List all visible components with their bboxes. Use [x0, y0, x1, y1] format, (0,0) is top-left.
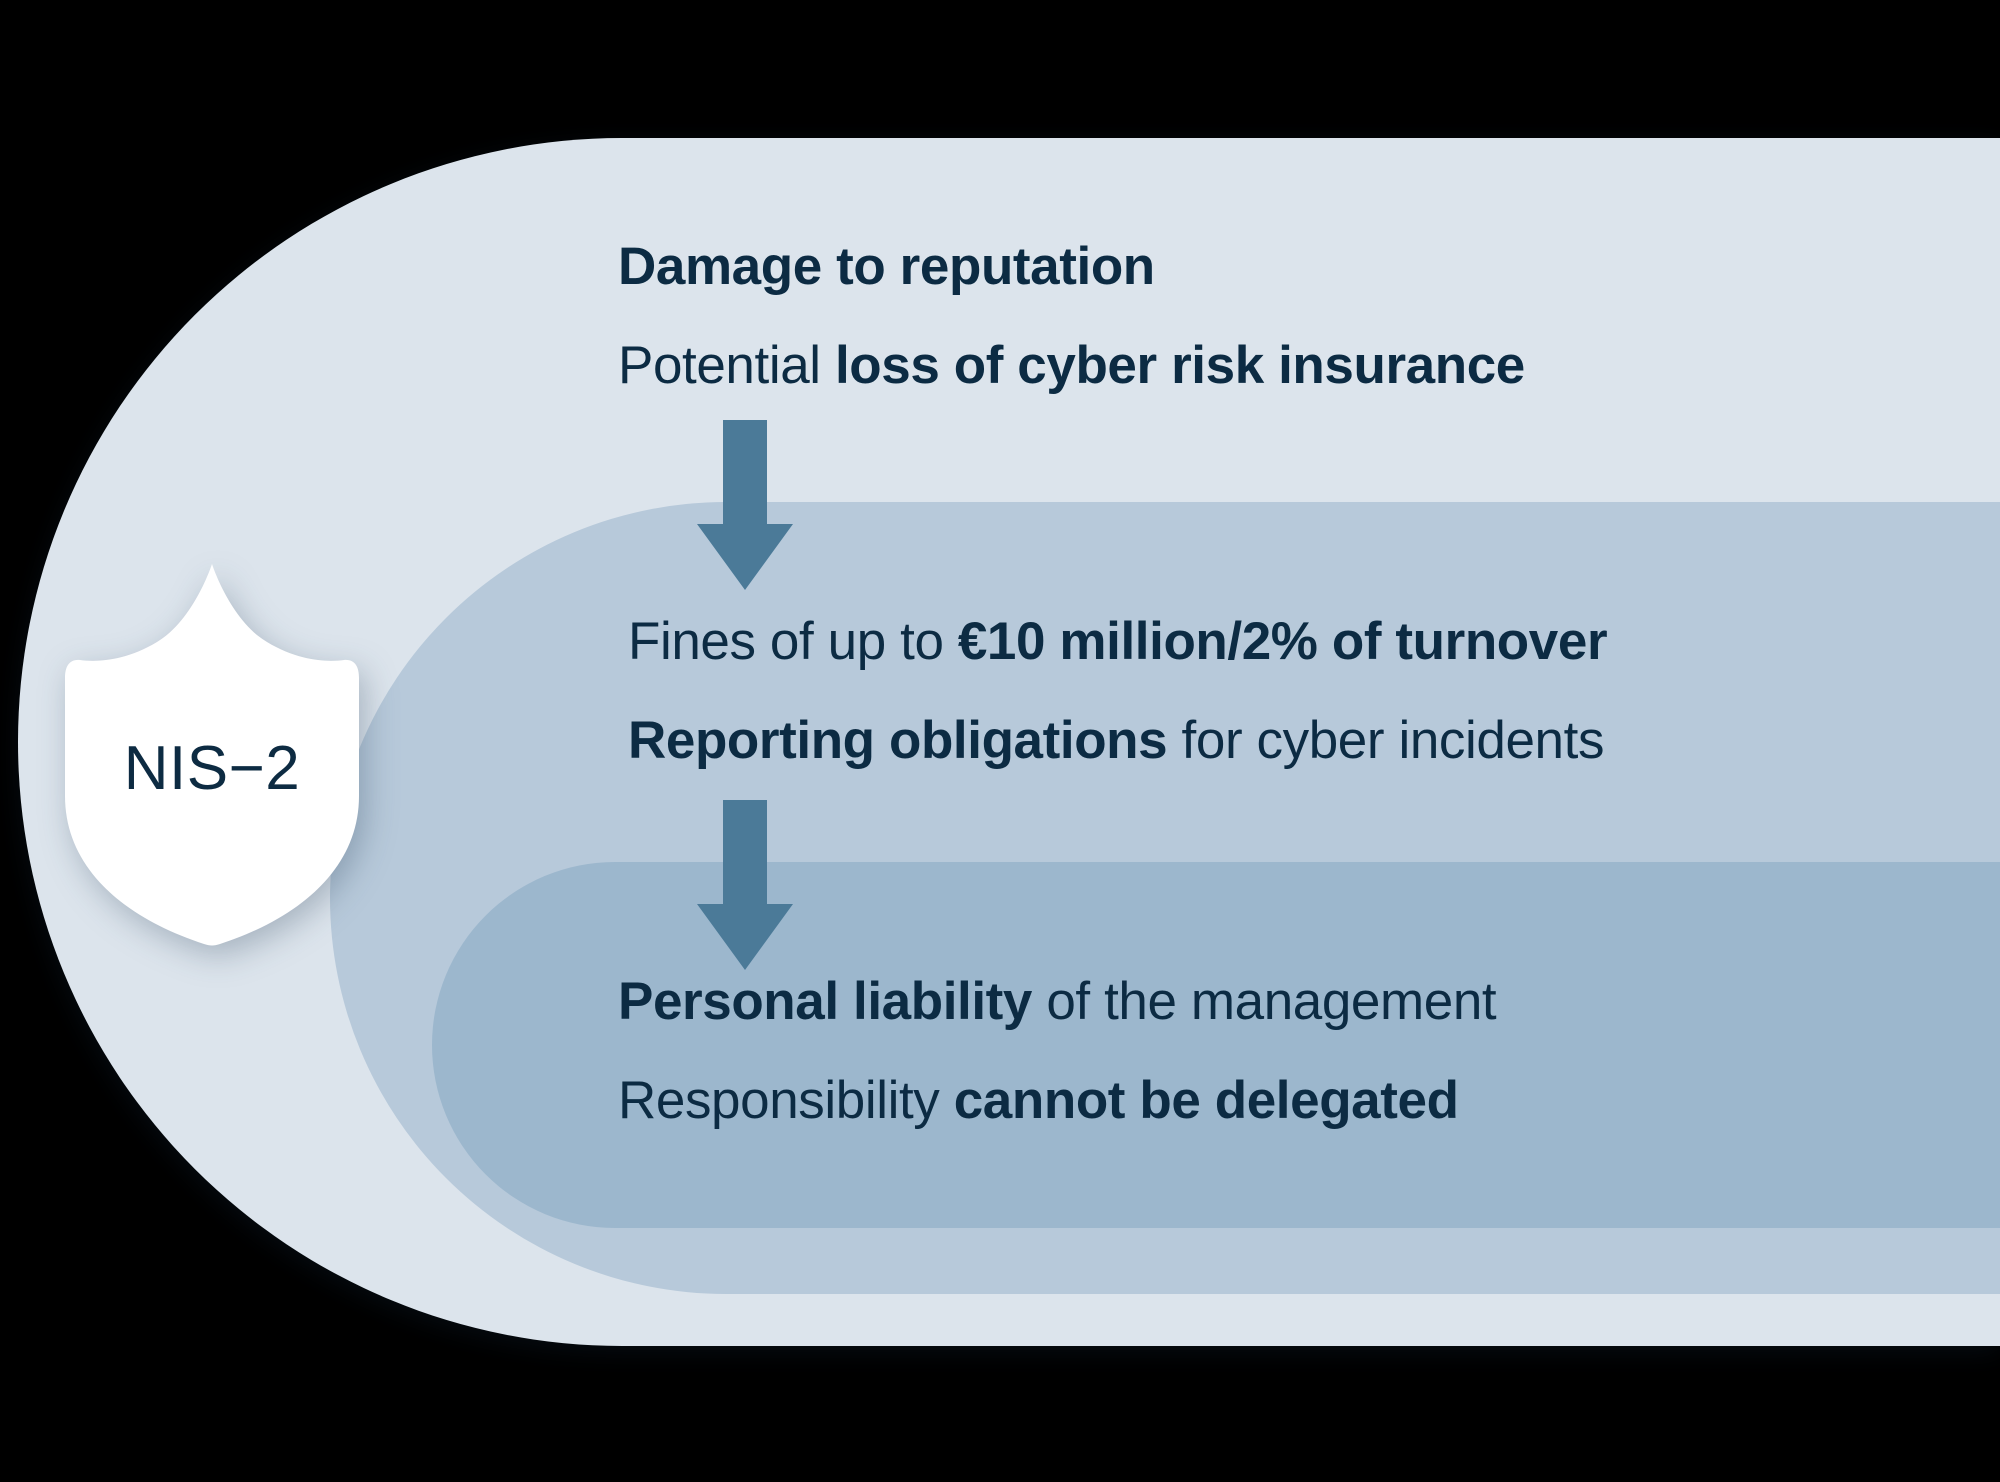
text-line: Reporting obligations for cyber incident…	[628, 714, 1607, 767]
text-line: Personal liability of the management	[618, 975, 1496, 1028]
text-segment: loss of cyber risk insurance	[835, 336, 1525, 395]
penalties-text: Fines of up to €10 million/2% of turnove…	[628, 615, 1607, 767]
text-segment: Responsibility	[618, 1071, 954, 1130]
arrow-down-icon	[697, 420, 793, 590]
arrow-down-1	[697, 420, 793, 590]
arrow-down-icon	[697, 800, 793, 970]
liability-text: Personal liability of the management Res…	[618, 975, 1496, 1127]
text-line: Fines of up to €10 million/2% of turnove…	[628, 615, 1607, 668]
infographic-canvas: NIS−2 Damage to reputation Potential los…	[0, 0, 2000, 1482]
text-line: Potential loss of cyber risk insurance	[618, 339, 1525, 392]
shield-icon	[62, 550, 362, 950]
text-segment: Reporting obligations	[628, 711, 1167, 770]
text-segment: €10 million/2% of turnover	[958, 612, 1607, 671]
text-line: Damage to reputation	[618, 240, 1525, 293]
text-segment: Damage to reputation	[618, 237, 1155, 296]
nis2-badge: NIS−2	[62, 550, 362, 950]
text-segment: of the management	[1032, 972, 1496, 1031]
consequences-text: Damage to reputation Potential loss of c…	[618, 240, 1525, 392]
text-segment: cannot be delegated	[954, 1071, 1459, 1130]
arrow-down-2	[697, 800, 793, 970]
text-segment: Personal liability	[618, 972, 1032, 1031]
text-line: Responsibility cannot be delegated	[618, 1074, 1496, 1127]
text-segment: Fines of up to	[628, 612, 958, 671]
text-segment: for cyber incidents	[1167, 711, 1604, 770]
text-segment: Potential	[618, 336, 835, 395]
